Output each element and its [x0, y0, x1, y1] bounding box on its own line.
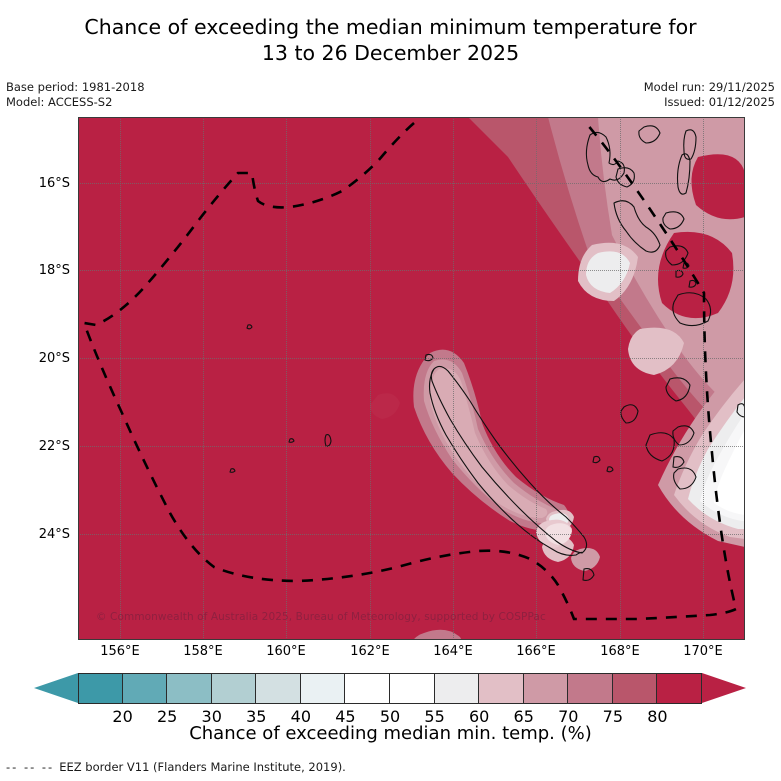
metadata-right: Model run: 29/11/2025 Issued: 01/12/2025 — [644, 80, 775, 110]
colorbar-segment-0 — [78, 673, 123, 704]
ytick-label-20S: 20°S — [0, 351, 70, 366]
xtick-label-160E: 160°E — [266, 644, 306, 659]
eez-dash-marker: -- -- -- — [6, 760, 54, 774]
xtick-label-170E: 170°E — [683, 644, 723, 659]
colorbar-segment-1 — [123, 673, 168, 704]
ytick-label-24S: 24°S — [0, 527, 70, 542]
xtick-label-156E: 156°E — [100, 644, 140, 659]
colorbar-segment-7 — [390, 673, 435, 704]
model-label: Model: ACCESS-S2 — [6, 95, 145, 110]
colorbar-segment-8 — [435, 673, 480, 704]
forecast-map-page: Chance of exceeding the median minimum t… — [0, 0, 781, 781]
xtick-label-168E: 168°E — [600, 644, 640, 659]
colorbar: 20253035404550556065707580 — [78, 673, 702, 704]
ytick-label-16S: 16°S — [0, 176, 70, 191]
map-copyright: © Commonwealth of Australia 2025, Bureau… — [96, 611, 546, 623]
colorbar-under-arrow — [34, 673, 78, 703]
colorbar-segment-2 — [167, 673, 212, 704]
xtick-label-166E: 166°E — [516, 644, 556, 659]
footer-text: EEZ border V11 (Flanders Marine Institut… — [59, 760, 346, 774]
title-line-2: 13 to 26 December 2025 — [0, 40, 781, 66]
xtick-label-164E: 164°E — [433, 644, 473, 659]
metadata-left: Base period: 1981-2018 Model: ACCESS-S2 — [6, 80, 145, 110]
ytick-label-18S: 18°S — [0, 263, 70, 278]
colorbar-title: Chance of exceeding median min. temp. (%… — [0, 723, 781, 744]
colorbar-segment-6 — [345, 673, 390, 704]
model-run-label: Model run: 29/11/2025 — [644, 80, 775, 95]
colorbar-segment-4 — [256, 673, 301, 704]
colorbar-segment-9 — [479, 673, 524, 704]
colorbar-segment-11 — [568, 673, 613, 704]
xtick-label-162E: 162°E — [350, 644, 390, 659]
colorbar-segment-13 — [657, 673, 702, 704]
colorbar-segment-3 — [212, 673, 257, 704]
footer-legend: -- -- -- EEZ border V11 (Flanders Marine… — [6, 760, 346, 774]
colorbar-over-arrow — [702, 673, 746, 703]
ytick-label-22S: 22°S — [0, 439, 70, 454]
colorbar-segment-12 — [613, 673, 658, 704]
title-line-1: Chance of exceeding the median minimum t… — [84, 15, 696, 39]
eez-border — [78, 117, 745, 640]
page-title: Chance of exceeding the median minimum t… — [0, 14, 781, 66]
xtick-label-158E: 158°E — [183, 644, 223, 659]
colorbar-segment-10 — [524, 673, 569, 704]
base-period-label: Base period: 1981-2018 — [6, 80, 145, 95]
map-plot-area — [78, 117, 745, 640]
colorbar-segment-5 — [301, 673, 346, 704]
issued-label: Issued: 01/12/2025 — [644, 95, 775, 110]
